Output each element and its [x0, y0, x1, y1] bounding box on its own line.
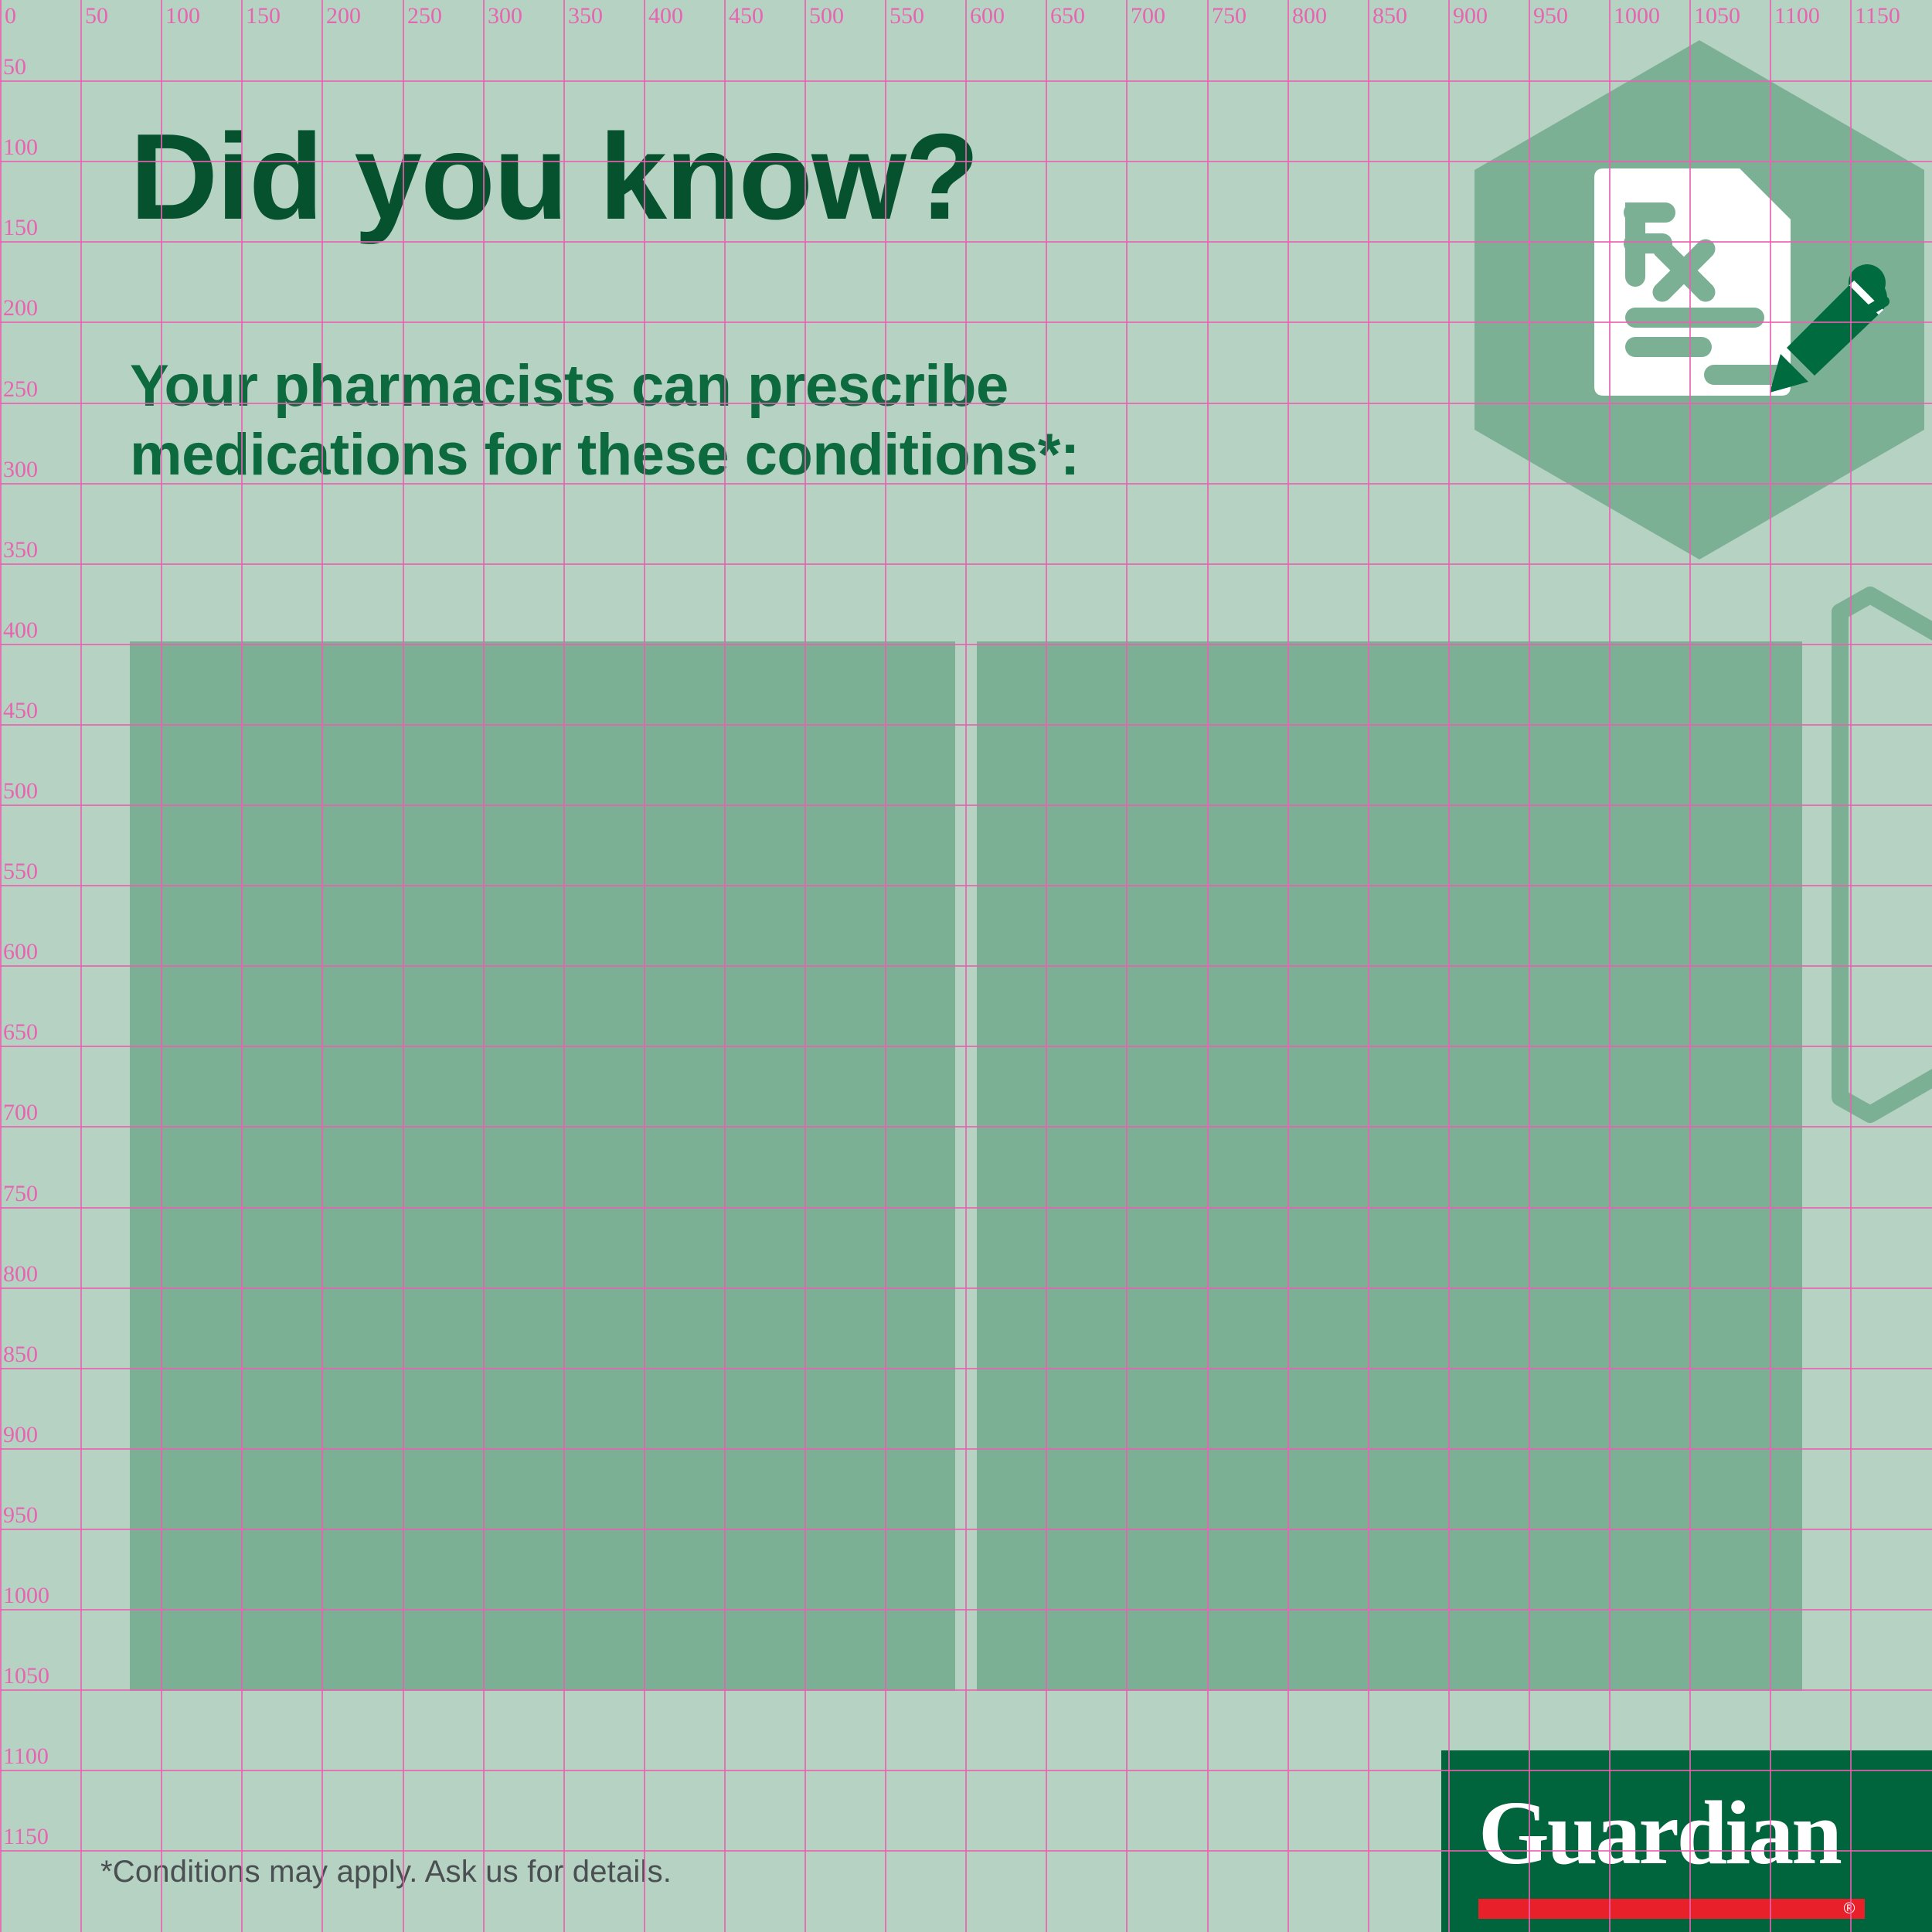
grid-label-x: 700 — [1131, 3, 1165, 29]
grid-label-y: 100 — [3, 134, 38, 161]
registered-trademark-icon: ® — [1834, 1899, 1865, 1919]
grid-label-x: 850 — [1372, 3, 1407, 29]
pencil-icon — [1753, 263, 1900, 410]
grid-label-x: 600 — [970, 3, 1005, 29]
grid-line-horizontal — [0, 80, 1932, 82]
grid-label-y: 1000 — [3, 1583, 49, 1609]
grid-label-y: 650 — [3, 1019, 38, 1046]
grid-label-y: 500 — [3, 778, 38, 804]
grid-label-x: 350 — [568, 3, 603, 29]
grid-label-y: 150 — [3, 215, 38, 241]
page-subtitle: Your pharmacists can prescribe medicatio… — [130, 238, 1444, 490]
guardian-logo: Guardian ® — [1441, 1750, 1932, 1932]
grid-label-y: 900 — [3, 1422, 38, 1448]
grid-label-x: 0 — [5, 3, 16, 29]
grid-label-y: 700 — [3, 1100, 38, 1126]
grid-label-x: 1100 — [1774, 3, 1820, 29]
grid-label-x: 50 — [85, 3, 108, 29]
grid-label-x: 800 — [1292, 3, 1327, 29]
grid-label-x: 650 — [1050, 3, 1085, 29]
grid-label-x: 950 — [1533, 3, 1568, 29]
grid-label-x: 900 — [1453, 3, 1488, 29]
grid-label-y: 400 — [3, 617, 38, 644]
grid-line-vertical — [80, 0, 82, 1932]
grid-label-y: 1100 — [3, 1743, 49, 1770]
grid-label-y: 50 — [3, 54, 26, 80]
grid-label-x: 250 — [407, 3, 442, 29]
grid-label-x: 1050 — [1694, 3, 1740, 29]
grid-label-x: 200 — [326, 3, 361, 29]
footnote-disclaimer: *Conditions may apply. Ask us for detail… — [100, 1855, 672, 1889]
grid-label-x: 550 — [889, 3, 924, 29]
content-panels — [130, 641, 1802, 1691]
grid-label-y: 1050 — [3, 1663, 49, 1689]
grid-label-y: 600 — [3, 939, 38, 965]
grid-label-x: 450 — [729, 3, 764, 29]
grid-label-y: 200 — [3, 295, 38, 321]
poster-canvas: Did you know? Your pharmacists can presc… — [0, 0, 1932, 1932]
grid-label-y: 1150 — [3, 1824, 49, 1850]
subtitle-line-2: medications for these conditions*: — [130, 421, 1444, 490]
subtitle-line-1: Your pharmacists can prescribe — [130, 352, 1444, 421]
conditions-panel-left — [130, 641, 955, 1691]
grid-label-y: 750 — [3, 1181, 38, 1207]
guardian-wordmark: Guardian — [1478, 1787, 1840, 1879]
grid-label-x: 1000 — [1614, 3, 1660, 29]
grid-label-y: 250 — [3, 376, 38, 403]
grid-label-y: 300 — [3, 457, 38, 483]
grid-label-x: 500 — [809, 3, 844, 29]
grid-label-y: 950 — [3, 1502, 38, 1529]
grid-label-x: 300 — [488, 3, 522, 29]
grid-label-x: 100 — [165, 3, 200, 29]
hexagon-outline-icon — [1840, 595, 1932, 1114]
grid-label-y: 550 — [3, 859, 38, 885]
page-title: Did you know? — [130, 116, 1444, 238]
grid-line-horizontal — [0, 563, 1932, 565]
grid-line-vertical — [0, 0, 2, 1932]
grid-label-y: 850 — [3, 1342, 38, 1368]
grid-label-x: 400 — [648, 3, 683, 29]
conditions-panel-right — [977, 641, 1802, 1691]
grid-label-x: 1150 — [1855, 3, 1900, 29]
grid-label-y: 450 — [3, 698, 38, 724]
grid-label-y: 350 — [3, 537, 38, 563]
headline-block: Did you know? Your pharmacists can presc… — [130, 116, 1444, 490]
guardian-red-rule — [1478, 1899, 1865, 1919]
grid-label-x: 150 — [246, 3, 281, 29]
grid-label-y: 800 — [3, 1261, 38, 1287]
grid-label-x: 750 — [1212, 3, 1247, 29]
